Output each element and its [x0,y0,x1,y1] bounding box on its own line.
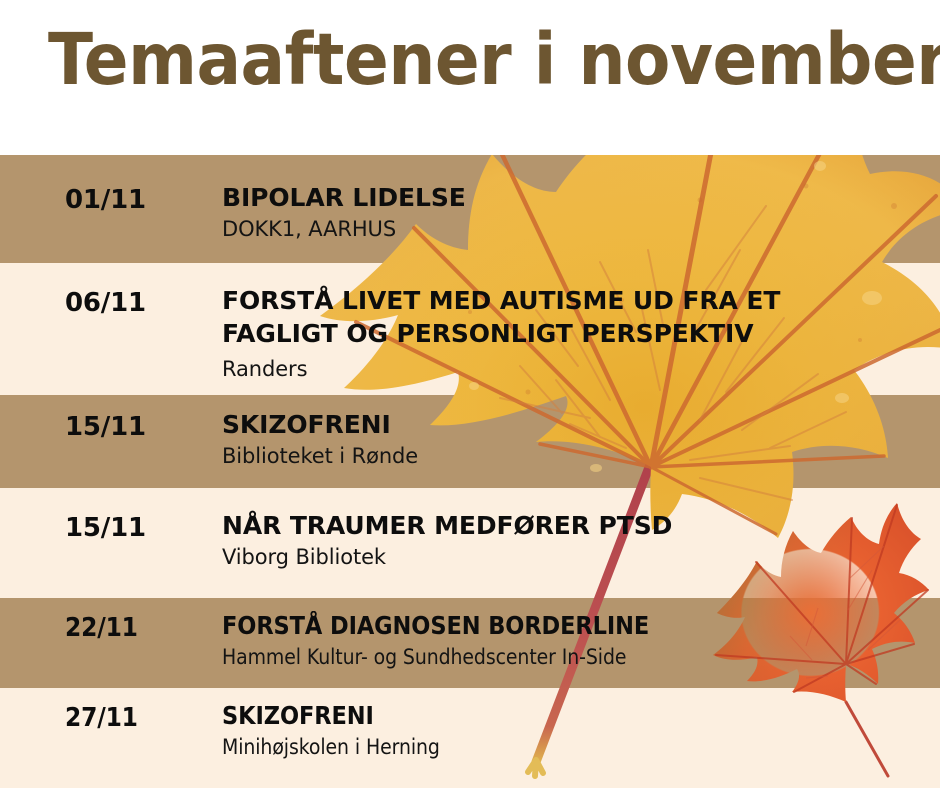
page-title: Temaaftener i november [48,24,940,95]
event-title: BIPOLAR LIDELSE [222,181,940,214]
event-body: SKIZOFRENI Minihøjskolen i Herning [222,699,940,761]
event-title: FORSTÅ DIAGNOSEN BORDERLINE [222,609,868,642]
event-title: SKIZOFRENI [222,699,868,732]
list-item[interactable]: 01/11 BIPOLAR LIDELSE DOKK1, AARHUS [0,155,940,263]
event-body: BIPOLAR LIDELSE DOKK1, AARHUS [222,181,940,243]
poster-header: Temaaftener i november [0,0,940,155]
event-venue: Hammel Kultur- og Sundhedscenter In-Side [222,644,868,671]
event-venue: Biblioteket i Rønde [222,443,940,470]
event-title: SKIZOFRENI [222,408,940,441]
event-date: 15/11 [65,412,146,442]
event-date: 27/11 [65,703,138,733]
event-body: FORSTÅ DIAGNOSEN BORDERLINE Hammel Kultu… [222,609,940,671]
event-date: 06/11 [65,288,146,318]
event-venue: Minihøjskolen i Herning [222,734,868,761]
event-date: 01/11 [65,185,146,215]
event-title: FORSTÅ LIVET MED AUTISME UD FRA ET FAGLI… [222,284,940,350]
event-venue: DOKK1, AARHUS [222,216,940,243]
poster-canvas: Temaaftener i november 01/11 BIPOLAR LID… [0,0,940,788]
list-item[interactable]: 22/11 FORSTÅ DIAGNOSEN BORDERLINE Hammel… [0,598,940,688]
event-title: NÅR TRAUMER MEDFØRER PTSD [222,509,940,542]
list-item[interactable]: 15/11 NÅR TRAUMER MEDFØRER PTSD Viborg B… [0,488,940,598]
event-venue: Viborg Bibliotek [222,544,940,571]
event-body: FORSTÅ LIVET MED AUTISME UD FRA ET FAGLI… [222,284,940,383]
list-item[interactable]: 06/11 FORSTÅ LIVET MED AUTISME UD FRA ET… [0,263,940,395]
event-body: NÅR TRAUMER MEDFØRER PTSD Viborg Bibliot… [222,509,940,571]
event-body: SKIZOFRENI Biblioteket i Rønde [222,408,940,470]
event-date: 15/11 [65,513,146,543]
event-venue: Randers [222,356,940,383]
list-item[interactable]: 15/11 SKIZOFRENI Biblioteket i Rønde [0,395,940,488]
list-item[interactable]: 27/11 SKIZOFRENI Minihøjskolen i Herning [0,688,940,788]
event-date: 22/11 [65,613,138,643]
